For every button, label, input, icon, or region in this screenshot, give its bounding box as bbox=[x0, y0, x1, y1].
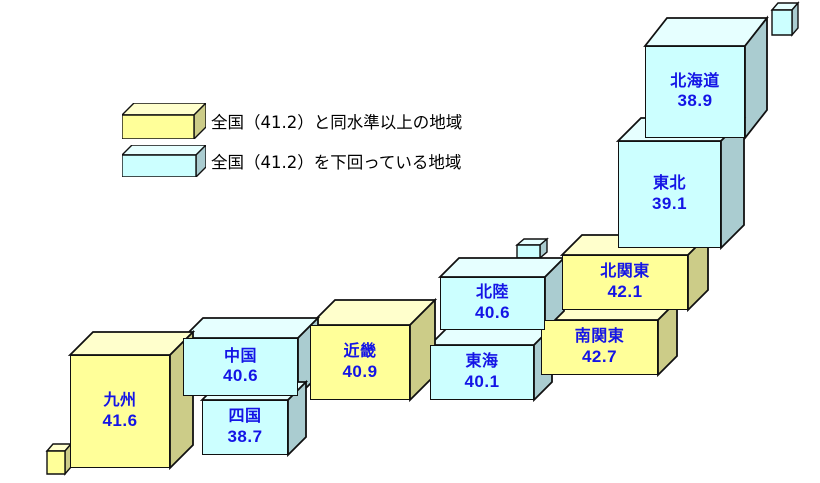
region-kinki-front bbox=[310, 325, 410, 400]
legend-row-below: 全国（41.2）を下回っている地域 bbox=[122, 145, 461, 177]
region-block-chugoku[interactable]: 中国 40.6 bbox=[183, 318, 298, 396]
region-tokai-front bbox=[430, 345, 534, 400]
region-hokkaido-front bbox=[645, 46, 745, 138]
region-block-kinki[interactable]: 近畿 40.9 bbox=[310, 300, 410, 400]
legend-swatch-at-or-above bbox=[122, 103, 206, 139]
region-block-hokuriku[interactable]: 北陸 40.6 bbox=[440, 258, 545, 330]
region-hokuriku-front bbox=[440, 277, 545, 330]
islet-okinawa bbox=[47, 444, 71, 474]
region-kita-kanto-front bbox=[562, 255, 688, 310]
legend-row-at-or-above: 全国（41.2）と同水準以上の地域 bbox=[122, 103, 462, 139]
region-block-hokkaido[interactable]: 北海道 38.9 bbox=[645, 18, 745, 138]
region-block-kyushu[interactable]: 九州 41.6 bbox=[70, 332, 170, 468]
region-shikoku-front bbox=[202, 400, 288, 455]
region-chugoku-front bbox=[183, 338, 298, 396]
region-block-minami-kanto[interactable]: 南関東 42.7 bbox=[541, 301, 658, 375]
islet-hokkaido-3d bbox=[772, 3, 798, 35]
legend-swatch-below bbox=[122, 145, 206, 177]
region-kyushu-front bbox=[70, 355, 170, 468]
region-block-tokai[interactable]: 東海 40.1 bbox=[430, 327, 534, 400]
legend-swatch-3d-blue bbox=[122, 145, 206, 177]
legend-label-below: 全国（41.2）を下回っている地域 bbox=[211, 149, 461, 173]
region-minami-kanto-front bbox=[541, 320, 658, 375]
prefecture-block-chart: 全国（41.2）と同水準以上の地域 全国（41.2）を下回っている地域 bbox=[0, 0, 820, 483]
region-tohoku-front bbox=[618, 141, 721, 248]
islet-hokkaido bbox=[772, 3, 798, 35]
islet-okinawa-3d bbox=[47, 444, 71, 474]
legend-swatch-3d-yellow bbox=[122, 103, 206, 139]
islet-hokuriku-3d bbox=[517, 239, 547, 258]
legend-label-at-or-above: 全国（41.2）と同水準以上の地域 bbox=[211, 109, 462, 133]
islet-hokuriku bbox=[517, 239, 547, 258]
